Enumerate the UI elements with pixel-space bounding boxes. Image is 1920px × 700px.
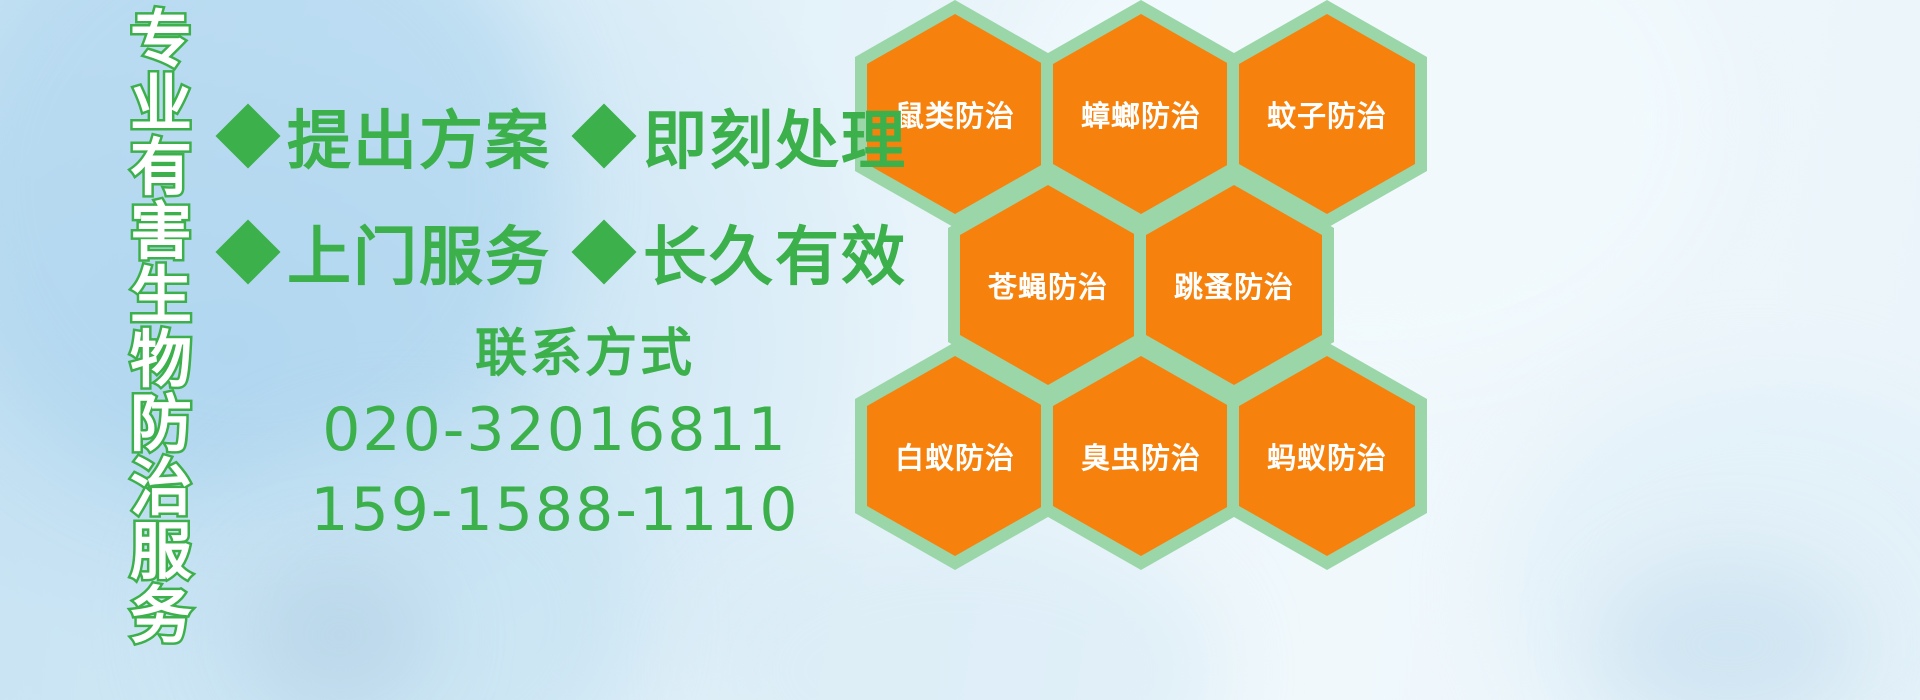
service-hex-fill: 苍蝇防治 (960, 185, 1136, 385)
vertical-headline-char: 物 (130, 328, 192, 392)
vertical-headline-char: 生 (130, 264, 192, 328)
vertical-headline-char: 专 (130, 8, 192, 72)
feature-row: 提出方案 即刻处理 (225, 78, 937, 194)
diamond-bullet-icon (215, 219, 280, 284)
feature-list: 提出方案 即刻处理 上门服务 长久有效 (225, 78, 937, 310)
service-hex-label: 蟑螂防治 (1081, 93, 1201, 135)
contact-phone-mobile[interactable]: 159-1588-1110 (265, 470, 845, 550)
contact-phone-landline[interactable]: 020-32016811 (265, 390, 845, 470)
background-blob (1600, 560, 1860, 700)
service-hex-fill: 跳蚤防治 (1146, 185, 1322, 385)
service-honeycomb: 鼠类防治 蟑螂防治 蚊子防治 苍蝇防治 跳蚤防治 白蚁防治 (855, 0, 1475, 700)
vertical-headline-char: 服 (130, 520, 192, 584)
feature-item: 即刻处理 (581, 90, 937, 182)
diamond-bullet-icon (215, 103, 280, 168)
service-hex-fill: 臭虫防治 (1053, 356, 1229, 556)
diamond-bullet-icon (571, 219, 636, 284)
vertical-headline: 专 业 有 害 生 物 防 治 服 务 (105, 8, 217, 648)
service-hex-fill: 白蚁防治 (867, 356, 1043, 556)
feature-label: 即刻处理 (643, 90, 907, 182)
feature-label: 长久有效 (643, 206, 907, 298)
service-hex-label: 跳蚤防治 (1174, 264, 1294, 306)
feature-item: 长久有效 (581, 206, 937, 298)
service-hex-label: 臭虫防治 (1081, 435, 1201, 477)
service-hex-label: 白蚁防治 (895, 435, 1015, 477)
feature-row: 上门服务 长久有效 (225, 194, 937, 310)
diamond-bullet-icon (571, 103, 636, 168)
vertical-headline-char: 有 (130, 136, 192, 200)
contact-title: 联系方式 (325, 318, 845, 390)
feature-label: 提出方案 (287, 90, 551, 182)
service-hex-fill: 蚊子防治 (1239, 14, 1415, 214)
vertical-headline-char: 务 (130, 584, 192, 648)
service-hex-label: 蚊子防治 (1267, 93, 1387, 135)
vertical-headline-char: 治 (130, 456, 192, 520)
service-hex-fill: 蟑螂防治 (1053, 14, 1229, 214)
feature-item: 提出方案 (225, 90, 581, 182)
vertical-headline-char: 害 (130, 200, 192, 264)
background-blob (250, 560, 430, 700)
service-hex-fill: 蚂蚁防治 (1239, 356, 1415, 556)
background-blob (1500, 380, 1920, 700)
service-hex-label: 蚂蚁防治 (1267, 435, 1387, 477)
vertical-headline-char: 防 (130, 392, 192, 456)
vertical-headline-char: 业 (130, 72, 192, 136)
contact-block: 联系方式 020-32016811 159-1588-1110 (225, 318, 845, 550)
pest-control-banner: 专 业 有 害 生 物 防 治 服 务 提出方案 即刻处理 上门服务 (0, 0, 1920, 700)
feature-item: 上门服务 (225, 206, 581, 298)
feature-label: 上门服务 (287, 206, 551, 298)
service-hex-label: 苍蝇防治 (988, 264, 1108, 306)
